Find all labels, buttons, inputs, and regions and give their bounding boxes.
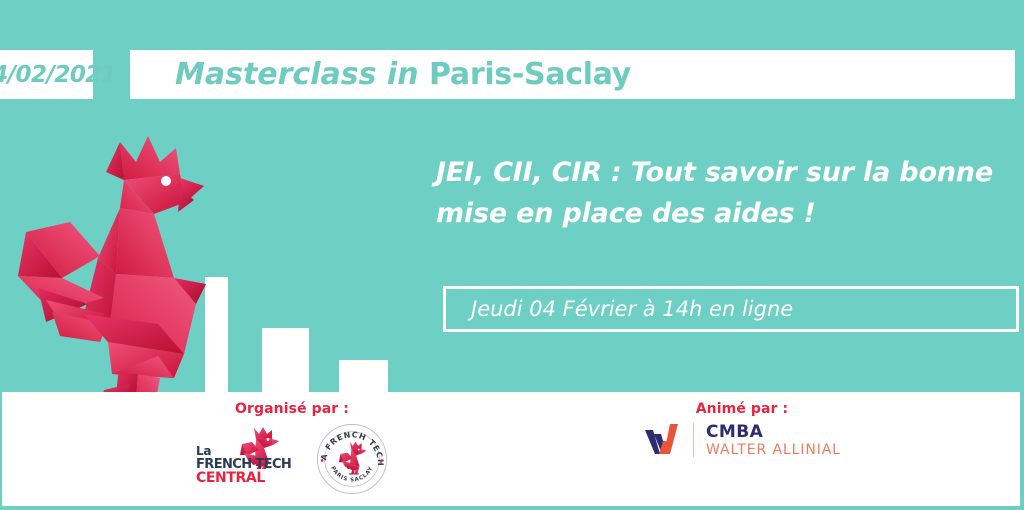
event-title-bar: Masterclass in Paris-Saclay [130, 50, 1015, 99]
ftc-line-2: FRENCH TECH [196, 458, 294, 472]
event-date-badge: 04/02/2021 [0, 50, 93, 99]
cmba-wordmark: CMBA WALTER ALLINIAL [706, 422, 841, 459]
event-date-text: 04/02/2021 [0, 62, 116, 88]
page-title: Masterclass in Paris-Saclay [175, 60, 631, 90]
cmba-walter-allinial-logo: CMBA WALTER ALLINIAL [643, 421, 841, 459]
organisers-column: Organisé par : [142, 392, 442, 506]
ftc-line-3: CENTRAL [196, 471, 294, 486]
ftc-line-1: La [196, 445, 294, 458]
organised-by-label: Organisé par : [235, 401, 349, 417]
french-tech-rooster-illustration [8, 128, 223, 400]
french-tech-central-logo: La FRENCH TECH CENTRAL [196, 429, 294, 489]
host-column: Animé par : CMBA WALTER ALLINIAL [577, 392, 907, 506]
cmba-divider [693, 423, 694, 457]
cmba-name: CMBA [706, 422, 841, 442]
cmba-w-mark-icon [643, 421, 687, 459]
decorative-bar-2 [262, 328, 309, 400]
event-headline: JEI, CII, CIR : Tout savoir sur la bonne… [436, 152, 1024, 234]
organiser-logos: La FRENCH TECH CENTRAL [196, 423, 388, 495]
title-prefix: Masterclass in [175, 57, 429, 92]
event-when-text: Jeudi 04 Février à 14h en ligne [471, 297, 793, 321]
event-when-box: Jeudi 04 Février à 14h en ligne [443, 286, 1019, 332]
event-banner: 04/02/2021 Masterclass in Paris-Saclay J… [0, 0, 1024, 510]
cmba-subtitle: WALTER ALLINIAL [706, 442, 841, 459]
hosted-by-label: Animé par : [696, 401, 789, 417]
french-tech-central-wordmark: La FRENCH TECH CENTRAL [196, 445, 294, 486]
french-tech-paris-saclay-stamp: LA FRENCH TECH PARIS SACLAY [316, 423, 388, 495]
footer-panel: Organisé par : [2, 392, 1020, 506]
title-location: Paris-Saclay [429, 57, 631, 92]
